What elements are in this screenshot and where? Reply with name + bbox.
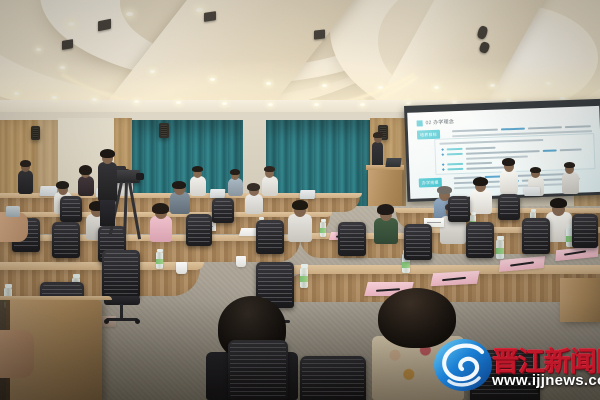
chair-back	[256, 220, 284, 254]
chair-mesh	[406, 227, 430, 257]
attendee-torso	[18, 170, 33, 194]
desk-face	[0, 240, 300, 262]
downlight-icon	[222, 102, 227, 105]
chair-mesh	[230, 343, 286, 397]
downlight-icon	[210, 78, 215, 81]
downlight-icon	[268, 103, 273, 106]
attendee-torso	[562, 172, 579, 194]
attendee-hair	[550, 198, 567, 208]
chair-back	[522, 218, 550, 254]
desk-laptop	[210, 189, 226, 198]
camera-lens-icon	[136, 173, 144, 180]
paper-cup	[176, 262, 187, 274]
chair-mesh	[450, 199, 468, 219]
bottle-cap	[471, 212, 476, 215]
watermark-url: www.ijjnews.com	[492, 372, 600, 389]
downlight-icon	[406, 102, 411, 105]
chair-mesh	[574, 217, 596, 245]
downlight-icon	[266, 82, 271, 85]
attendee-torso	[374, 218, 398, 244]
chair-back	[228, 340, 288, 400]
videographer-legs	[100, 200, 115, 226]
chair-back	[448, 196, 470, 222]
downlight-icon	[134, 100, 139, 103]
attendee-hair	[192, 166, 203, 172]
attendee-torso	[262, 176, 278, 196]
bottle-cap	[301, 264, 308, 268]
chair-base	[106, 318, 138, 321]
attendee-torso	[245, 194, 263, 214]
water-bottle	[156, 252, 163, 269]
water-bottle	[496, 240, 504, 259]
chair-mesh	[214, 201, 232, 220]
attendee-hair	[437, 186, 452, 194]
foreground-desk-panel-right	[560, 278, 600, 322]
attendee-torso	[170, 192, 190, 214]
downlight-icon	[196, 8, 203, 12]
chair-back	[102, 250, 140, 298]
chair-back	[300, 356, 366, 400]
chair-back	[212, 198, 234, 223]
ceiling	[0, 0, 600, 118]
downlight-icon	[52, 96, 57, 99]
chair-mesh	[54, 225, 78, 255]
chair-back	[466, 222, 494, 258]
attendee-torso	[78, 176, 94, 196]
chair-mesh	[258, 223, 282, 251]
downlight-icon	[322, 84, 327, 87]
spotlight-fixture-icon	[204, 11, 216, 22]
downlight-icon	[360, 103, 365, 106]
chair-back	[572, 214, 598, 248]
spotlight-fixture-icon	[314, 29, 325, 39]
foreground-desk-top	[0, 296, 112, 300]
bottle-cap	[531, 209, 536, 212]
attendee-torso	[470, 190, 492, 214]
bottle-cap	[321, 219, 326, 222]
attendee-leg-left	[0, 330, 34, 378]
chair-back	[186, 214, 212, 246]
attendee-hair	[152, 203, 169, 214]
downlight-icon	[546, 82, 551, 85]
wall-speaker-icon	[159, 123, 169, 138]
downlight-icon	[434, 86, 439, 89]
bottle-cap	[497, 236, 504, 240]
chair-mesh	[302, 359, 364, 397]
downlight-icon	[490, 84, 495, 87]
downlight-icon	[150, 70, 155, 73]
chair-back	[52, 222, 80, 258]
presenter-hair	[373, 132, 383, 138]
chair-back	[60, 196, 82, 222]
attendee-hair	[473, 177, 488, 186]
attendee-hair	[530, 167, 541, 173]
swirl-logo-icon	[432, 336, 494, 394]
phone-in-hand	[6, 206, 20, 217]
downlight-icon	[126, 12, 133, 16]
chair-wheel	[135, 319, 140, 324]
videographer-torso	[98, 162, 117, 202]
chair-mesh	[468, 225, 492, 255]
chair-back	[404, 224, 432, 260]
chair-mesh	[188, 217, 210, 243]
chair-mesh	[104, 253, 138, 295]
downlight-icon	[176, 101, 181, 104]
attendee-torso	[150, 216, 172, 242]
water-bottle	[320, 222, 326, 237]
attendee-hair	[377, 204, 394, 215]
chair-back	[498, 194, 520, 220]
chair-back	[338, 222, 366, 256]
downlight-icon	[60, 66, 65, 69]
downlight-icon	[314, 103, 319, 106]
bottle-cap	[157, 249, 163, 252]
attendee-hair	[20, 160, 31, 167]
chair-mesh	[340, 225, 364, 253]
chair-mesh	[62, 199, 80, 219]
bottle-cap	[73, 274, 80, 278]
downlight-icon	[378, 86, 383, 89]
watermark: 晋江新闻网 www.ijjnews.com	[430, 334, 600, 398]
chair-mesh	[500, 197, 518, 217]
attendee-hair	[564, 162, 575, 168]
desk-laptop	[524, 187, 541, 196]
water-bottle	[300, 268, 308, 288]
bottle-cap	[5, 284, 12, 288]
attendee-hair	[292, 200, 308, 210]
videographer-hair	[100, 149, 115, 158]
attendee-hair	[56, 181, 69, 189]
conference-hall-photo: 02 办学理念 培养目标 办学规模	[0, 0, 600, 400]
attendee-hair	[502, 158, 515, 166]
desk-face	[0, 268, 200, 296]
podium-laptop	[385, 158, 401, 167]
attendee-torso	[190, 176, 206, 196]
downlight-icon	[36, 48, 41, 51]
attendee-hair	[79, 165, 92, 175]
paper-cup	[236, 256, 246, 267]
attendee-torso	[228, 178, 243, 196]
downlight-icon	[92, 98, 97, 101]
attendee-hair	[247, 183, 260, 191]
downlight-icon	[14, 92, 19, 95]
desk-laptop	[300, 190, 316, 199]
attendee-torso	[500, 170, 518, 194]
attendee-hair	[172, 181, 186, 189]
attendee-torso	[288, 214, 312, 242]
wall-speaker-icon	[31, 126, 40, 140]
attendee-hair	[230, 169, 240, 175]
chair-mesh	[524, 221, 548, 251]
chair-wheel	[104, 319, 109, 324]
attendee-hair	[264, 166, 275, 172]
podium	[368, 168, 402, 208]
downlight-icon	[68, 22, 75, 26]
